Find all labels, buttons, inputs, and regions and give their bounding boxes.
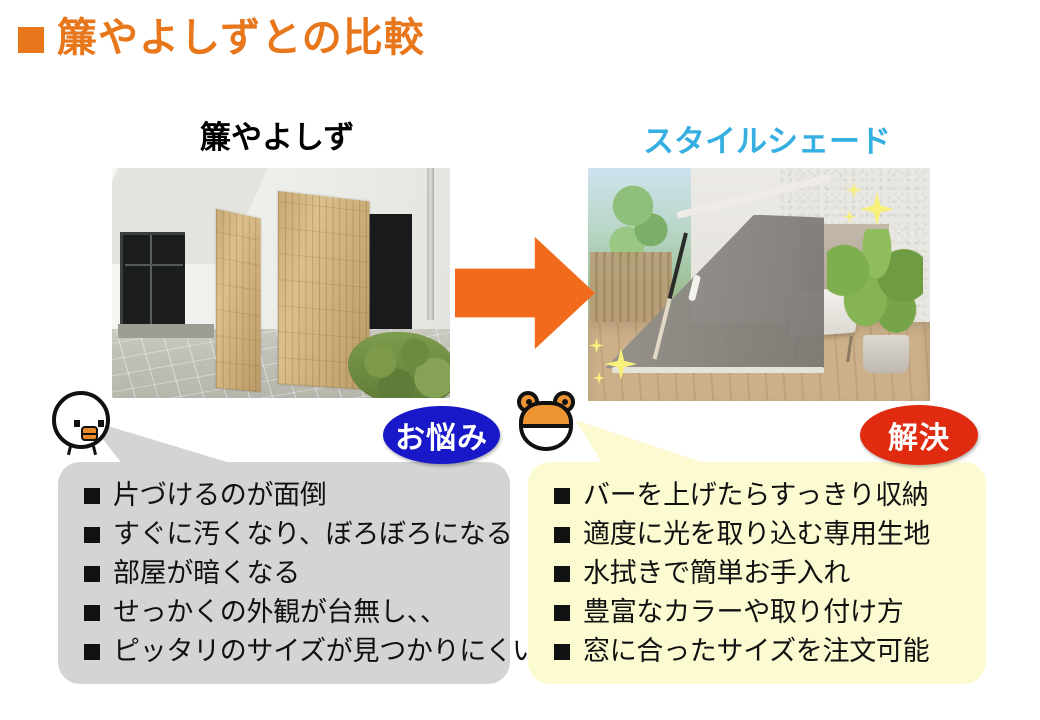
white-bird-mascot-icon bbox=[48, 391, 114, 457]
photo-shade-bottom-bar bbox=[612, 367, 824, 373]
list-item-label: 窓に合ったサイズを注文可能 bbox=[583, 638, 929, 665]
right-photo-style-shade bbox=[588, 168, 930, 401]
bear-muzzle bbox=[522, 424, 573, 450]
slide-title-row: 簾やよしずとの比較 bbox=[18, 18, 425, 58]
square-bullet-icon bbox=[554, 605, 570, 621]
left-photo-yoshizu bbox=[112, 168, 450, 398]
status-badge-solution: 解決 bbox=[860, 405, 978, 465]
photo-reed-screen-left bbox=[216, 209, 261, 392]
square-bullet-icon bbox=[554, 488, 570, 504]
list-item: せっかくの外観が台無し、、 bbox=[84, 593, 500, 632]
right-arrow-icon bbox=[455, 232, 595, 354]
square-bullet-icon bbox=[84, 527, 100, 543]
list-item: すぐに汚くなり、ぼろぼろになる bbox=[84, 515, 500, 554]
square-bullet-icon bbox=[84, 644, 100, 660]
list-item: 片づけるのが面倒 bbox=[84, 476, 500, 515]
left-bullet-list: 片づけるのが面倒 すぐに汚くなり、ぼろぼろになる 部屋が暗くなる せっかくの外観… bbox=[84, 476, 500, 671]
left-problem-bubble: 片づけるのが面倒 すぐに汚くなり、ぼろぼろになる 部屋が暗くなる せっかくの外観… bbox=[58, 462, 510, 684]
left-column-heading: 簾やよしず bbox=[200, 122, 354, 153]
bird-eye bbox=[98, 420, 104, 427]
bird-eye bbox=[74, 420, 80, 427]
list-item: 水拭きで簡単お手入れ bbox=[554, 554, 976, 593]
bird-foot bbox=[92, 446, 97, 455]
list-item-label: 片づけるのが面倒 bbox=[113, 482, 327, 509]
list-item: バーを上げたらすっきり収納 bbox=[554, 476, 976, 515]
list-item: 豊富なカラーや取り付け方 bbox=[554, 593, 976, 632]
square-bullet-icon bbox=[84, 488, 100, 504]
page-title: 簾やよしずとの比較 bbox=[57, 18, 425, 58]
right-solution-bubble: バーを上げたらすっきり収納 適度に光を取り込む専用生地 水拭きで簡単お手入れ 豊… bbox=[528, 462, 986, 684]
list-item-label: ピッタリのサイズが見つかりにくい bbox=[113, 638, 539, 665]
list-item: 部屋が暗くなる bbox=[84, 554, 500, 593]
bird-body bbox=[52, 391, 110, 449]
list-item-label: すぐに汚くなり、ぼろぼろになる bbox=[113, 521, 512, 548]
status-badge-worry: お悩み bbox=[383, 406, 500, 464]
square-bullet-icon bbox=[554, 644, 570, 660]
photo-step bbox=[118, 324, 214, 338]
list-item-label: 豊富なカラーや取り付け方 bbox=[583, 599, 903, 626]
list-item: ピッタリのサイズが見つかりにくい bbox=[84, 632, 500, 671]
list-item-label: 適度に光を取り込む専用生地 bbox=[583, 521, 930, 548]
list-item-label: バーを上げたらすっきり収納 bbox=[583, 482, 928, 509]
list-item-label: 水拭きで簡単お手入れ bbox=[583, 560, 850, 587]
photo-drain-pipe bbox=[427, 168, 434, 320]
list-item: 適度に光を取り込む専用生地 bbox=[554, 515, 976, 554]
list-item-label: せっかくの外観が台無し、、 bbox=[113, 599, 447, 626]
square-bullet-icon bbox=[84, 605, 100, 621]
list-item-label: 部屋が暗くなる bbox=[113, 560, 300, 587]
list-item: 窓に合ったサイズを注文可能 bbox=[554, 632, 976, 671]
comparison-slide: 簾やよしずとの比較 簾やよしず スタイルシェード bbox=[0, 0, 1040, 720]
photo-palm-plant bbox=[827, 229, 923, 351]
photo-plant-pot bbox=[863, 335, 909, 373]
orange-square-marker-icon bbox=[18, 27, 44, 53]
bear-head bbox=[519, 401, 573, 451]
right-column-heading: スタイルシェード bbox=[643, 126, 891, 157]
photo-fence bbox=[590, 252, 672, 322]
orange-bear-mascot-icon bbox=[513, 391, 583, 457]
square-bullet-icon bbox=[84, 566, 100, 582]
bird-beak bbox=[81, 426, 98, 441]
square-bullet-icon bbox=[554, 527, 570, 543]
right-bullet-list: バーを上げたらすっきり収納 適度に光を取り込む専用生地 水拭きで簡単お手入れ 豊… bbox=[554, 476, 976, 671]
photo-shrub bbox=[348, 332, 450, 398]
square-bullet-icon bbox=[554, 566, 570, 582]
